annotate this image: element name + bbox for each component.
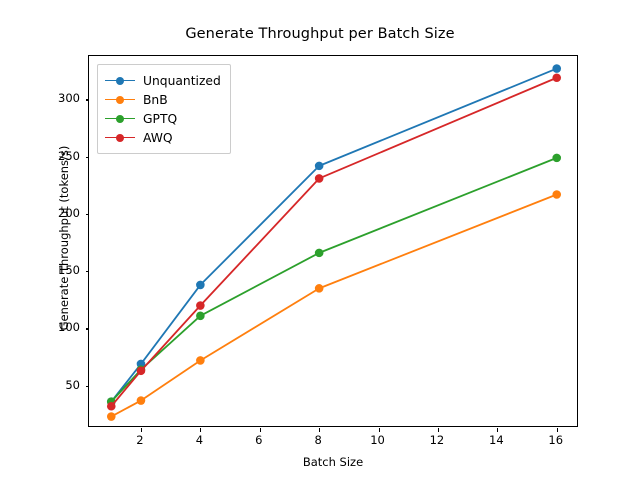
data-point [315, 284, 324, 293]
y-tick-label: 250 [36, 149, 80, 163]
y-axis-label: Generate Throughput (tokens/s) [57, 52, 71, 424]
legend-item-unquantized[interactable]: Unquantized [105, 71, 221, 90]
legend-label: Unquantized [143, 74, 221, 88]
x-tick-mark [557, 428, 558, 432]
data-point [552, 190, 561, 199]
y-tick-mark [86, 328, 90, 329]
legend-marker-icon [105, 131, 135, 145]
legend-dot-icon [116, 134, 124, 142]
series-line-gptq [111, 158, 556, 402]
data-point [137, 396, 146, 405]
x-tick-label: 2 [120, 433, 160, 447]
x-tick-label: 4 [179, 433, 219, 447]
y-tick-label: 50 [36, 378, 80, 392]
x-tick-mark [438, 428, 439, 432]
data-point [196, 281, 205, 290]
legend-dot-icon [116, 96, 124, 104]
y-tick-mark [86, 386, 90, 387]
data-point [315, 174, 324, 183]
data-point [196, 312, 205, 321]
x-tick-label: 16 [536, 433, 576, 447]
legend-marker-icon [105, 93, 135, 107]
x-tick-label: 6 [239, 433, 279, 447]
y-tick-mark [86, 214, 90, 215]
x-tick-label: 10 [358, 433, 398, 447]
data-point [107, 412, 116, 421]
y-tick-label: 150 [36, 263, 80, 277]
data-point [137, 366, 146, 375]
data-point [552, 154, 561, 163]
y-tick-mark [86, 99, 90, 100]
data-point [552, 64, 561, 73]
x-tick-mark [379, 428, 380, 432]
data-point [107, 402, 116, 411]
legend-dot-icon [116, 77, 124, 85]
legend-item-gptq[interactable]: GPTQ [105, 109, 221, 128]
legend-marker-icon [105, 74, 135, 88]
data-point [315, 249, 324, 258]
legend-item-awq[interactable]: AWQ [105, 128, 221, 147]
y-tick-label: 300 [36, 91, 80, 105]
x-tick-label: 14 [476, 433, 516, 447]
y-tick-label: 200 [36, 206, 80, 220]
y-tick-label: 100 [36, 320, 80, 334]
data-point [315, 162, 324, 171]
x-tick-label: 12 [417, 433, 457, 447]
x-axis-label: Batch Size [88, 455, 578, 469]
x-tick-mark [200, 428, 201, 432]
chart-figure: Generate Throughput per Batch Size Gener… [0, 0, 640, 480]
x-tick-mark [141, 428, 142, 432]
x-tick-label: 8 [298, 433, 338, 447]
x-tick-mark [260, 428, 261, 432]
legend-label: GPTQ [143, 112, 177, 126]
x-tick-mark [497, 428, 498, 432]
chart-title: Generate Throughput per Batch Size [0, 26, 640, 42]
data-point [552, 73, 561, 82]
legend-label: BnB [143, 93, 168, 107]
y-tick-mark [86, 271, 90, 272]
y-tick-mark [86, 157, 90, 158]
chart-legend: UnquantizedBnBGPTQAWQ [97, 64, 231, 154]
legend-item-bnb[interactable]: BnB [105, 90, 221, 109]
series-line-bnb [111, 194, 556, 416]
data-point [196, 356, 205, 365]
legend-marker-icon [105, 112, 135, 126]
x-tick-mark [319, 428, 320, 432]
data-point [196, 301, 205, 310]
legend-dot-icon [116, 115, 124, 123]
legend-label: AWQ [143, 131, 173, 145]
